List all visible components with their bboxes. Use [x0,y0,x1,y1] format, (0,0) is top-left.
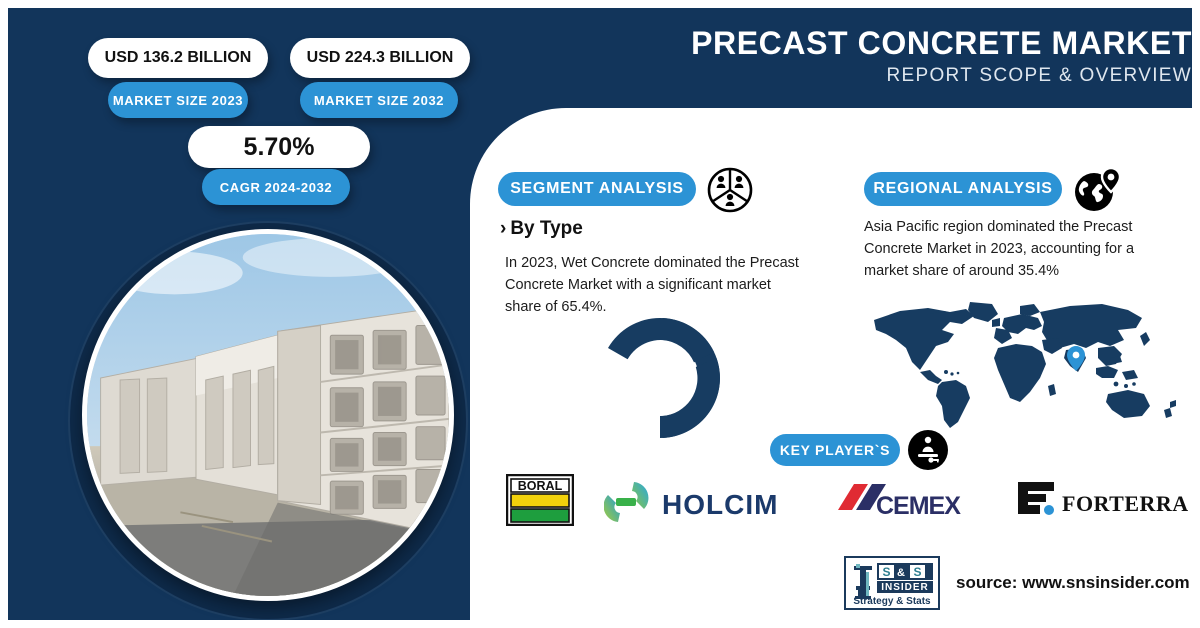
svg-text:S: S [913,565,921,579]
svg-text:S: S [882,565,890,579]
svg-text:INSIDER: INSIDER [881,582,929,593]
svg-text:FORTERRA: FORTERRA [1062,491,1189,516]
segment-donut-chart [596,314,724,442]
market-size-2023-value: USD 136.2 BILLION [88,38,268,78]
segment-heading: ›By Type [500,218,583,240]
navy-background: PRECAST CONCRETE MARKET REPORT SCOPE & O… [8,8,1192,620]
source-text: source: www.snsinsider.com [956,573,1190,593]
forterra-logo: FORTERRA [1016,478,1192,522]
segment-heading-label: By Type [510,218,583,239]
page-subtitle: REPORT SCOPE & OVERVIEW [608,65,1192,87]
cagr-value: 5.70% [188,126,370,168]
segment-description: In 2023, Wet Concrete dominated the Prec… [505,252,811,318]
cagr-label: CAGR 2024-2032 [202,169,350,205]
cemex-logo: CEMEX [834,482,996,524]
boral-logo: BORAL [506,474,574,526]
photo-illustration [87,234,449,596]
market-size-2032-value: USD 224.3 BILLION [290,38,470,78]
svg-text:CEMEX: CEMEX [876,492,961,520]
donut-slice-dry-concrete-b [663,358,720,438]
infographic-canvas: PRECAST CONCRETE MARKET REPORT SCOPE & O… [0,0,1200,628]
map-marker-asia-pacific [1067,346,1085,371]
svg-text:&: & [897,567,905,579]
world-map [870,300,1186,430]
page-title: PRECAST CONCRETE MARKET [608,26,1192,62]
segment-pie-people-icon [706,166,754,214]
donut-slice-dry-concrete-a [663,318,715,362]
header: PRECAST CONCRETE MARKET REPORT SCOPE & O… [608,26,1192,87]
donut-svg [596,314,724,442]
footer: S & S INSIDER Strategy & Stats source: w… [844,556,1190,610]
sns-insider-logo: S & S INSIDER Strategy & Stats [844,556,940,610]
chevron-right-icon: › [500,218,506,239]
regional-description: Asia Pacific region dominated the Precas… [864,216,1182,282]
precast-concrete-photo [82,229,454,601]
svg-text:Strategy & Stats: Strategy & Stats [853,596,931,607]
key-players-badge: KEY PLAYER`S [770,434,900,466]
world-map-svg [870,300,1186,430]
regional-analysis-badge: REGIONAL ANALYSIS [864,172,1062,206]
photo-ring [70,223,466,619]
svg-text:BORAL: BORAL [518,479,563,493]
market-size-2023-label: MARKET SIZE 2023 [108,82,248,118]
key-person-icon [908,430,948,470]
market-size-2032-label: MARKET SIZE 2032 [300,82,458,118]
holcim-logo: HOLCIM [604,480,800,524]
globe-pin-icon [1072,164,1124,216]
svg-text:HOLCIM: HOLCIM [662,489,778,520]
segment-analysis-badge: SEGMENT ANALYSIS [498,172,696,206]
